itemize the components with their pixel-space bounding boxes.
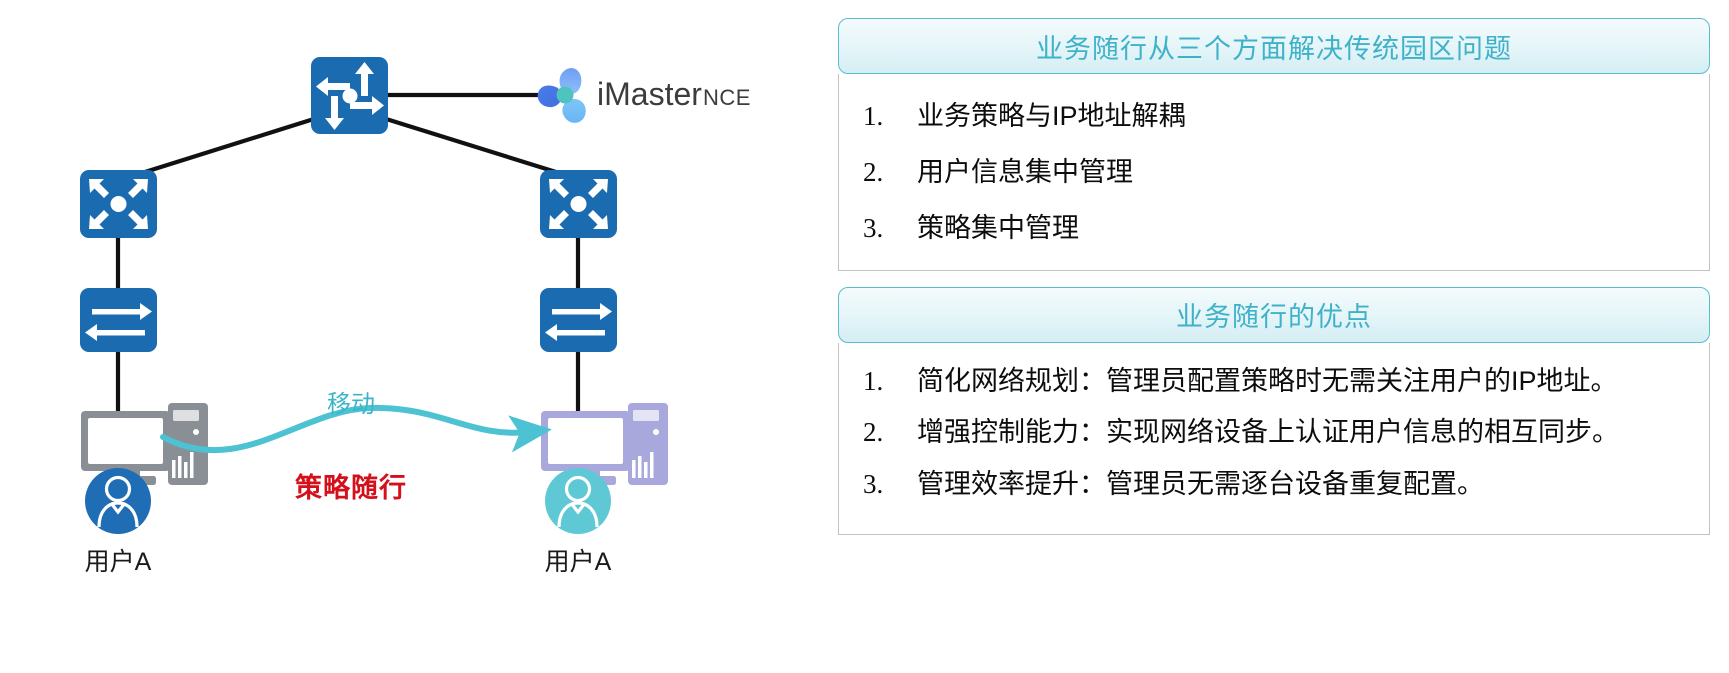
access-switch-icon-left (80, 288, 157, 352)
aggregation-switch-icon-left (80, 170, 157, 238)
list-item: 1. 业务策略与IP地址解耦 (863, 96, 1683, 138)
panel-problems-body: 1. 业务策略与IP地址解耦 2. 用户信息集中管理 3. 策略集中管理 (838, 74, 1710, 271)
avatar-left (85, 468, 151, 534)
list-item-text: 策略集中管理 (917, 208, 1683, 250)
router-icon (311, 57, 388, 134)
topology-links (118, 95, 578, 412)
list-item-text: 简化网络规划：管理员配置策略时无需关注用户的IP地址。 (917, 361, 1683, 403)
list-item-number: 2. (863, 412, 917, 454)
panel-advantages-body: 1. 简化网络规划：管理员配置策略时无需关注用户的IP地址。 2. 增强控制能力… (838, 343, 1710, 536)
user-label-right: 用户A (528, 542, 628, 578)
list-item: 2. 增强控制能力：实现网络设备上认证用户信息的相互同步。 (863, 412, 1683, 454)
panel-advantages: 业务随行的优点 1. 简化网络规划：管理员配置策略时无需关注用户的IP地址。 2… (838, 287, 1710, 536)
desktop-pc-icon-right (541, 403, 668, 485)
slide-root: iMaster NCE 移动 策略随行 用户A 用户A 业务随行从三个方面解决传… (0, 0, 1729, 673)
access-switch-icon-right (540, 288, 617, 352)
list-item-number: 1. (863, 361, 917, 403)
list-item-number: 3. (863, 464, 917, 506)
list-item: 3. 策略集中管理 (863, 208, 1683, 250)
imaster-brand-label: iMaster (597, 76, 702, 113)
list-item-text: 用户信息集中管理 (917, 152, 1683, 194)
avatar-right (545, 468, 611, 534)
list-item: 2. 用户信息集中管理 (863, 152, 1683, 194)
list-item-text: 业务策略与IP地址解耦 (917, 96, 1683, 138)
list-item-number: 2. (863, 152, 917, 194)
aggregation-switch-icon-right (540, 170, 617, 238)
list-item-number: 3. (863, 208, 917, 250)
problems-list: 1. 业务策略与IP地址解耦 2. 用户信息集中管理 3. 策略集中管理 (863, 96, 1683, 250)
link-core-to-agg-left (145, 118, 317, 172)
panel-advantages-title: 业务随行的优点 (838, 287, 1710, 343)
network-topology-diagram: iMaster NCE 移动 策略随行 用户A 用户A (0, 0, 820, 673)
list-item: 3. 管理效率提升：管理员无需逐台设备重复配置。 (863, 464, 1683, 506)
user-label-left: 用户A (68, 542, 168, 578)
list-item-text: 增强控制能力：实现网络设备上认证用户信息的相互同步。 (917, 412, 1683, 454)
policy-follow-label: 策略随行 (295, 466, 407, 505)
move-annotation-label: 移动 (327, 384, 375, 419)
panel-problems: 业务随行从三个方面解决传统园区问题 1. 业务策略与IP地址解耦 2. 用户信息… (838, 18, 1710, 271)
info-panels: 业务随行从三个方面解决传统园区问题 1. 业务策略与IP地址解耦 2. 用户信息… (838, 18, 1710, 535)
link-core-to-agg-right (383, 118, 556, 172)
list-item-number: 1. (863, 96, 917, 138)
list-item-text: 管理效率提升：管理员无需逐台设备重复配置。 (917, 464, 1683, 506)
imaster-product-label: NCE (703, 85, 751, 111)
list-item: 1. 简化网络规划：管理员配置策略时无需关注用户的IP地址。 (863, 361, 1683, 403)
imaster-propeller-logo (538, 68, 586, 123)
panel-problems-title: 业务随行从三个方面解决传统园区问题 (838, 18, 1710, 74)
advantages-list: 1. 简化网络规划：管理员配置策略时无需关注用户的IP地址。 2. 增强控制能力… (863, 361, 1683, 507)
